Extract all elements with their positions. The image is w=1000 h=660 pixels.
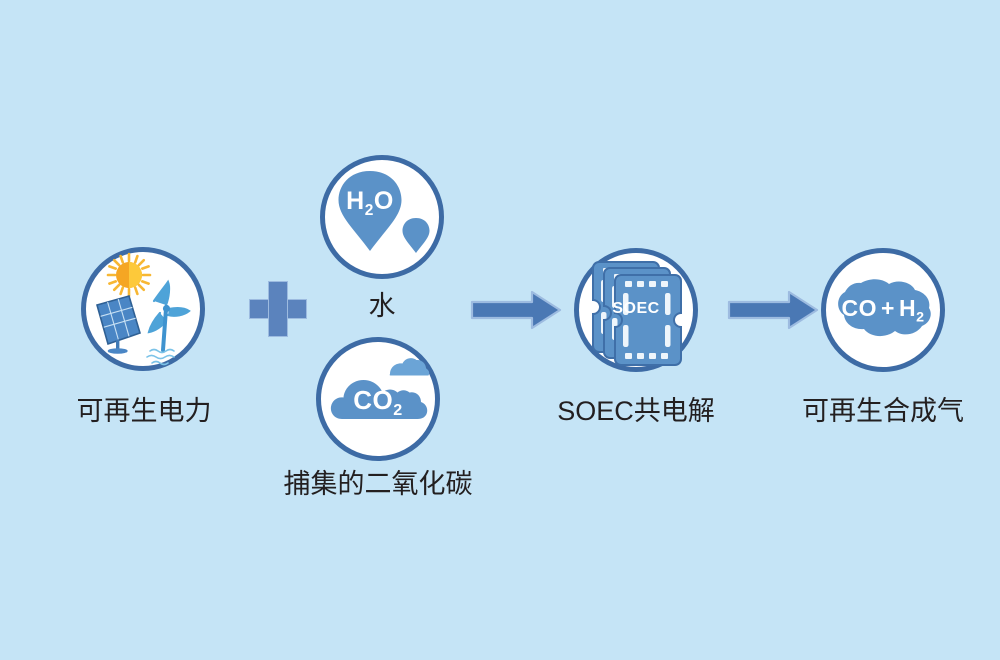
water-formula-o: O bbox=[374, 187, 394, 215]
syngas-formula-2: 2 bbox=[916, 310, 924, 326]
plus-operator bbox=[249, 281, 307, 337]
arrow-soec-to-syngas bbox=[727, 290, 819, 330]
co2-formula-co: CO bbox=[353, 385, 393, 415]
renewable-power-caption: 可再生电力 bbox=[44, 396, 244, 426]
water-formula: H2O bbox=[320, 187, 420, 220]
water-caption: 水 bbox=[322, 291, 442, 321]
soec-label: SOEC bbox=[574, 300, 698, 318]
plus-vertical-bar bbox=[268, 281, 288, 337]
captured-co2-caption: 捕集的二氧化碳 bbox=[278, 469, 478, 499]
arrow-inputs-to-soec bbox=[470, 290, 562, 330]
syngas-formula: CO+H2 bbox=[821, 295, 945, 326]
syngas-formula-plus: + bbox=[877, 295, 899, 321]
co2-formula: CO2 bbox=[316, 385, 440, 420]
renewable-syngas-caption: 可再生合成气 bbox=[783, 396, 983, 426]
diagram-canvas: 可再生电力 H2O 水 CO2 捕集的二氧化碳 bbox=[0, 0, 1000, 660]
syngas-formula-h: H bbox=[899, 295, 916, 321]
solar-panel-and-wind-turbine-icon bbox=[81, 247, 205, 371]
soec-caption: SOEC共电解 bbox=[546, 396, 726, 426]
water-formula-h: H bbox=[346, 187, 365, 215]
water-formula-2: 2 bbox=[365, 202, 374, 219]
syngas-formula-co: CO bbox=[842, 295, 878, 321]
co2-formula-2: 2 bbox=[393, 401, 402, 419]
